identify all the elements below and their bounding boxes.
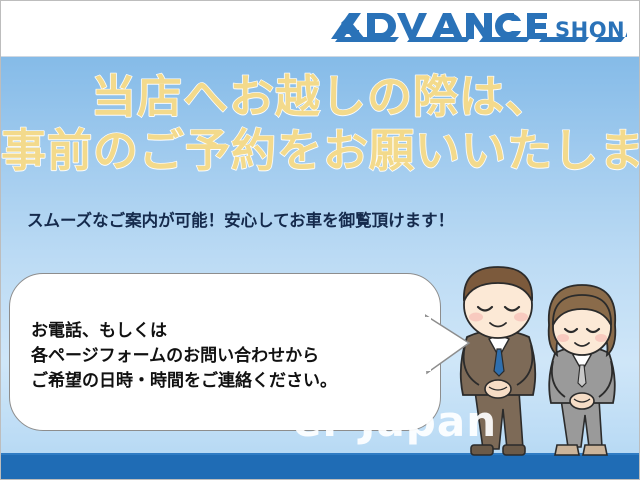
subtitle-text: スムーズなご案内が可能！安心してお車を御覧頂けます！ xyxy=(27,207,454,231)
bubble-line-1: お電話、もしくは xyxy=(31,319,337,344)
headline-line-1: 当店へお越しの際は、 xyxy=(1,71,640,123)
bubble-line-3: ご希望の日時・時間をご連絡ください。 xyxy=(31,369,337,394)
male-staff-bowing xyxy=(461,267,536,455)
advance-shonan-logo: SHONAN xyxy=(327,7,627,51)
advertisement-banner: SHONAN 当店へお越しの際は、 事前のご予約をお願いいたします! スムーズな… xyxy=(0,0,640,480)
banner-body: 当店へお越しの際は、 事前のご予約をお願いいたします! スムーズなご案内が可能！… xyxy=(1,57,640,480)
logo-svg: SHONAN xyxy=(327,9,627,49)
female-staff-bowing xyxy=(549,285,616,455)
bubble-line-2: 各ページフォームのお問い合わせから xyxy=(31,344,337,369)
header-band: SHONAN xyxy=(1,1,640,57)
speech-bubble-text: お電話、もしくは 各ページフォームのお問い合わせから ご希望の日時・時間をご連絡… xyxy=(31,319,337,394)
headline-line-2: 事前のご予約をお願いいたします! xyxy=(1,125,640,177)
two-bowing-staff-illustration xyxy=(445,253,640,465)
